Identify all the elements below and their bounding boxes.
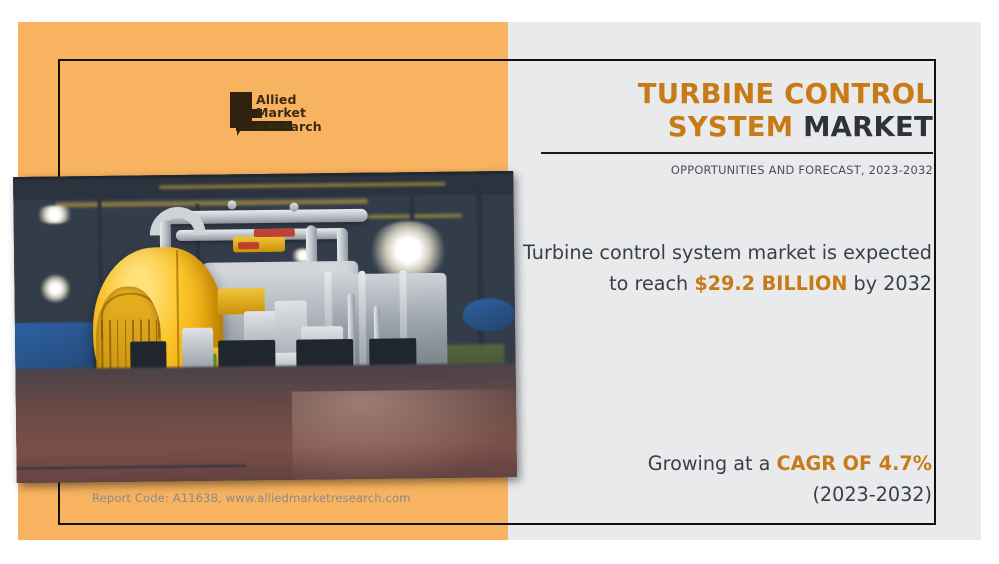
title-divider <box>541 152 933 154</box>
market-value: $29.2 BILLION <box>694 272 847 295</box>
allied-market-research-logo: Allied Market Research <box>230 92 330 147</box>
infographic-banner: Allied Market Research <box>0 0 999 564</box>
title-line2-rest: MARKET <box>793 111 933 143</box>
market-value-statement: Turbine control system market is expecte… <box>510 237 932 299</box>
title-line2-highlight: SYSTEM <box>668 111 794 143</box>
turbine-photo <box>13 171 517 483</box>
cagr-statement: Growing at a CAGR OF 4.7% (2023-2032) <box>510 448 932 510</box>
cagr-prefix: Growing at a <box>648 452 777 475</box>
logo-wordmark: Allied Market Research <box>256 93 322 133</box>
page-title: TURBINE CONTROL SYSTEM MARKET <box>535 78 933 144</box>
cagr-value: CAGR OF 4.7% <box>777 452 932 475</box>
logo-line-research: Research <box>256 120 322 133</box>
subtitle: OPPORTUNITIES AND FORECAST, 2023-2032 <box>535 163 933 177</box>
title-line1: TURBINE CONTROL <box>638 78 933 110</box>
market-text-suffix: by 2032 <box>847 272 932 295</box>
logo-line-market: Market <box>256 106 322 119</box>
logo-line-allied: Allied <box>256 93 322 106</box>
cagr-period: (2023-2032) <box>812 483 932 506</box>
report-code-footer: Report Code: A11638, www.alliedmarketres… <box>92 491 482 505</box>
